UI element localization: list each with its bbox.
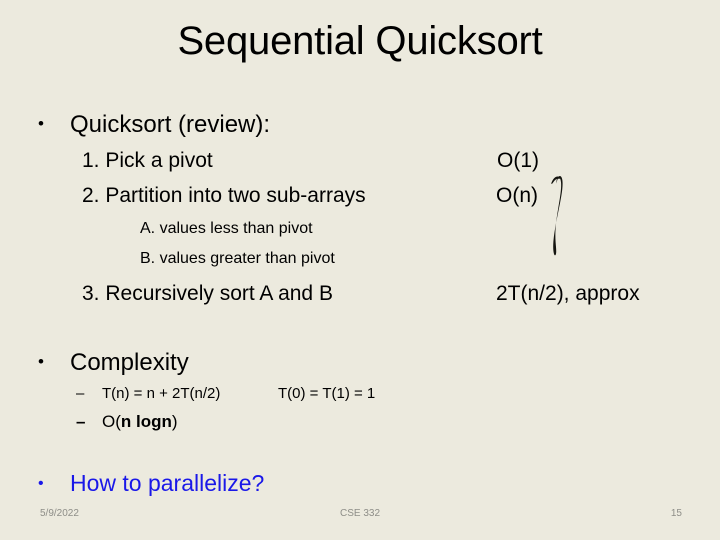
bullet-icon: • <box>38 110 70 138</box>
list-item-step-3: 3. Recursively sort A and B <box>82 281 333 306</box>
result-suffix: ) <box>172 412 178 431</box>
hand-drawn-ink-mark-icon <box>538 174 584 266</box>
list-item-recurrence: –T(n) = n + 2T(n/2) <box>76 385 220 403</box>
bullet-complexity: •Complexity <box>38 348 189 377</box>
dash-icon: – <box>76 413 102 431</box>
bullet-complexity-label: Complexity <box>70 349 189 377</box>
footer: 5/9/2022 CSE 332 15 <box>0 507 720 525</box>
list-item-step-2: 2. Partition into two sub-arrays <box>82 183 366 208</box>
complexity-note-step-1: O(1) <box>497 148 539 173</box>
recurrence-label: T(n) = n + 2T(n/2) <box>102 385 220 402</box>
complexity-note-step-2: O(n) <box>496 183 538 208</box>
bullet-how-to-parallelize: •How to parallelize? <box>38 470 264 497</box>
bullet-quicksort-review: •Quicksort (review): <box>38 110 270 139</box>
list-item-result: –O(n logn) <box>76 413 178 431</box>
result-prefix: O( <box>102 412 121 431</box>
result-bold: n logn <box>121 412 172 431</box>
bullet-how-to-parallelize-label: How to parallelize? <box>70 470 264 496</box>
bullet-icon: • <box>38 470 70 497</box>
complexity-note-step-3: 2T(n/2), approx <box>496 281 640 306</box>
bullet-quicksort-review-label: Quicksort (review): <box>70 111 270 139</box>
dash-icon: – <box>76 385 102 403</box>
list-item-substep-a: A. values less than pivot <box>140 219 313 238</box>
list-item-substep-b: B. values greater than pivot <box>140 249 335 268</box>
page-title: Sequential Quicksort <box>0 18 720 64</box>
footer-page-number: 15 <box>671 507 682 521</box>
slide: Sequential Quicksort •Quicksort (review)… <box>0 0 720 540</box>
list-item-step-1: 1. Pick a pivot <box>82 148 213 173</box>
base-case-label: T(0) = T(1) = 1 <box>278 385 375 403</box>
footer-course: CSE 332 <box>0 507 720 521</box>
bullet-icon: • <box>38 348 70 376</box>
